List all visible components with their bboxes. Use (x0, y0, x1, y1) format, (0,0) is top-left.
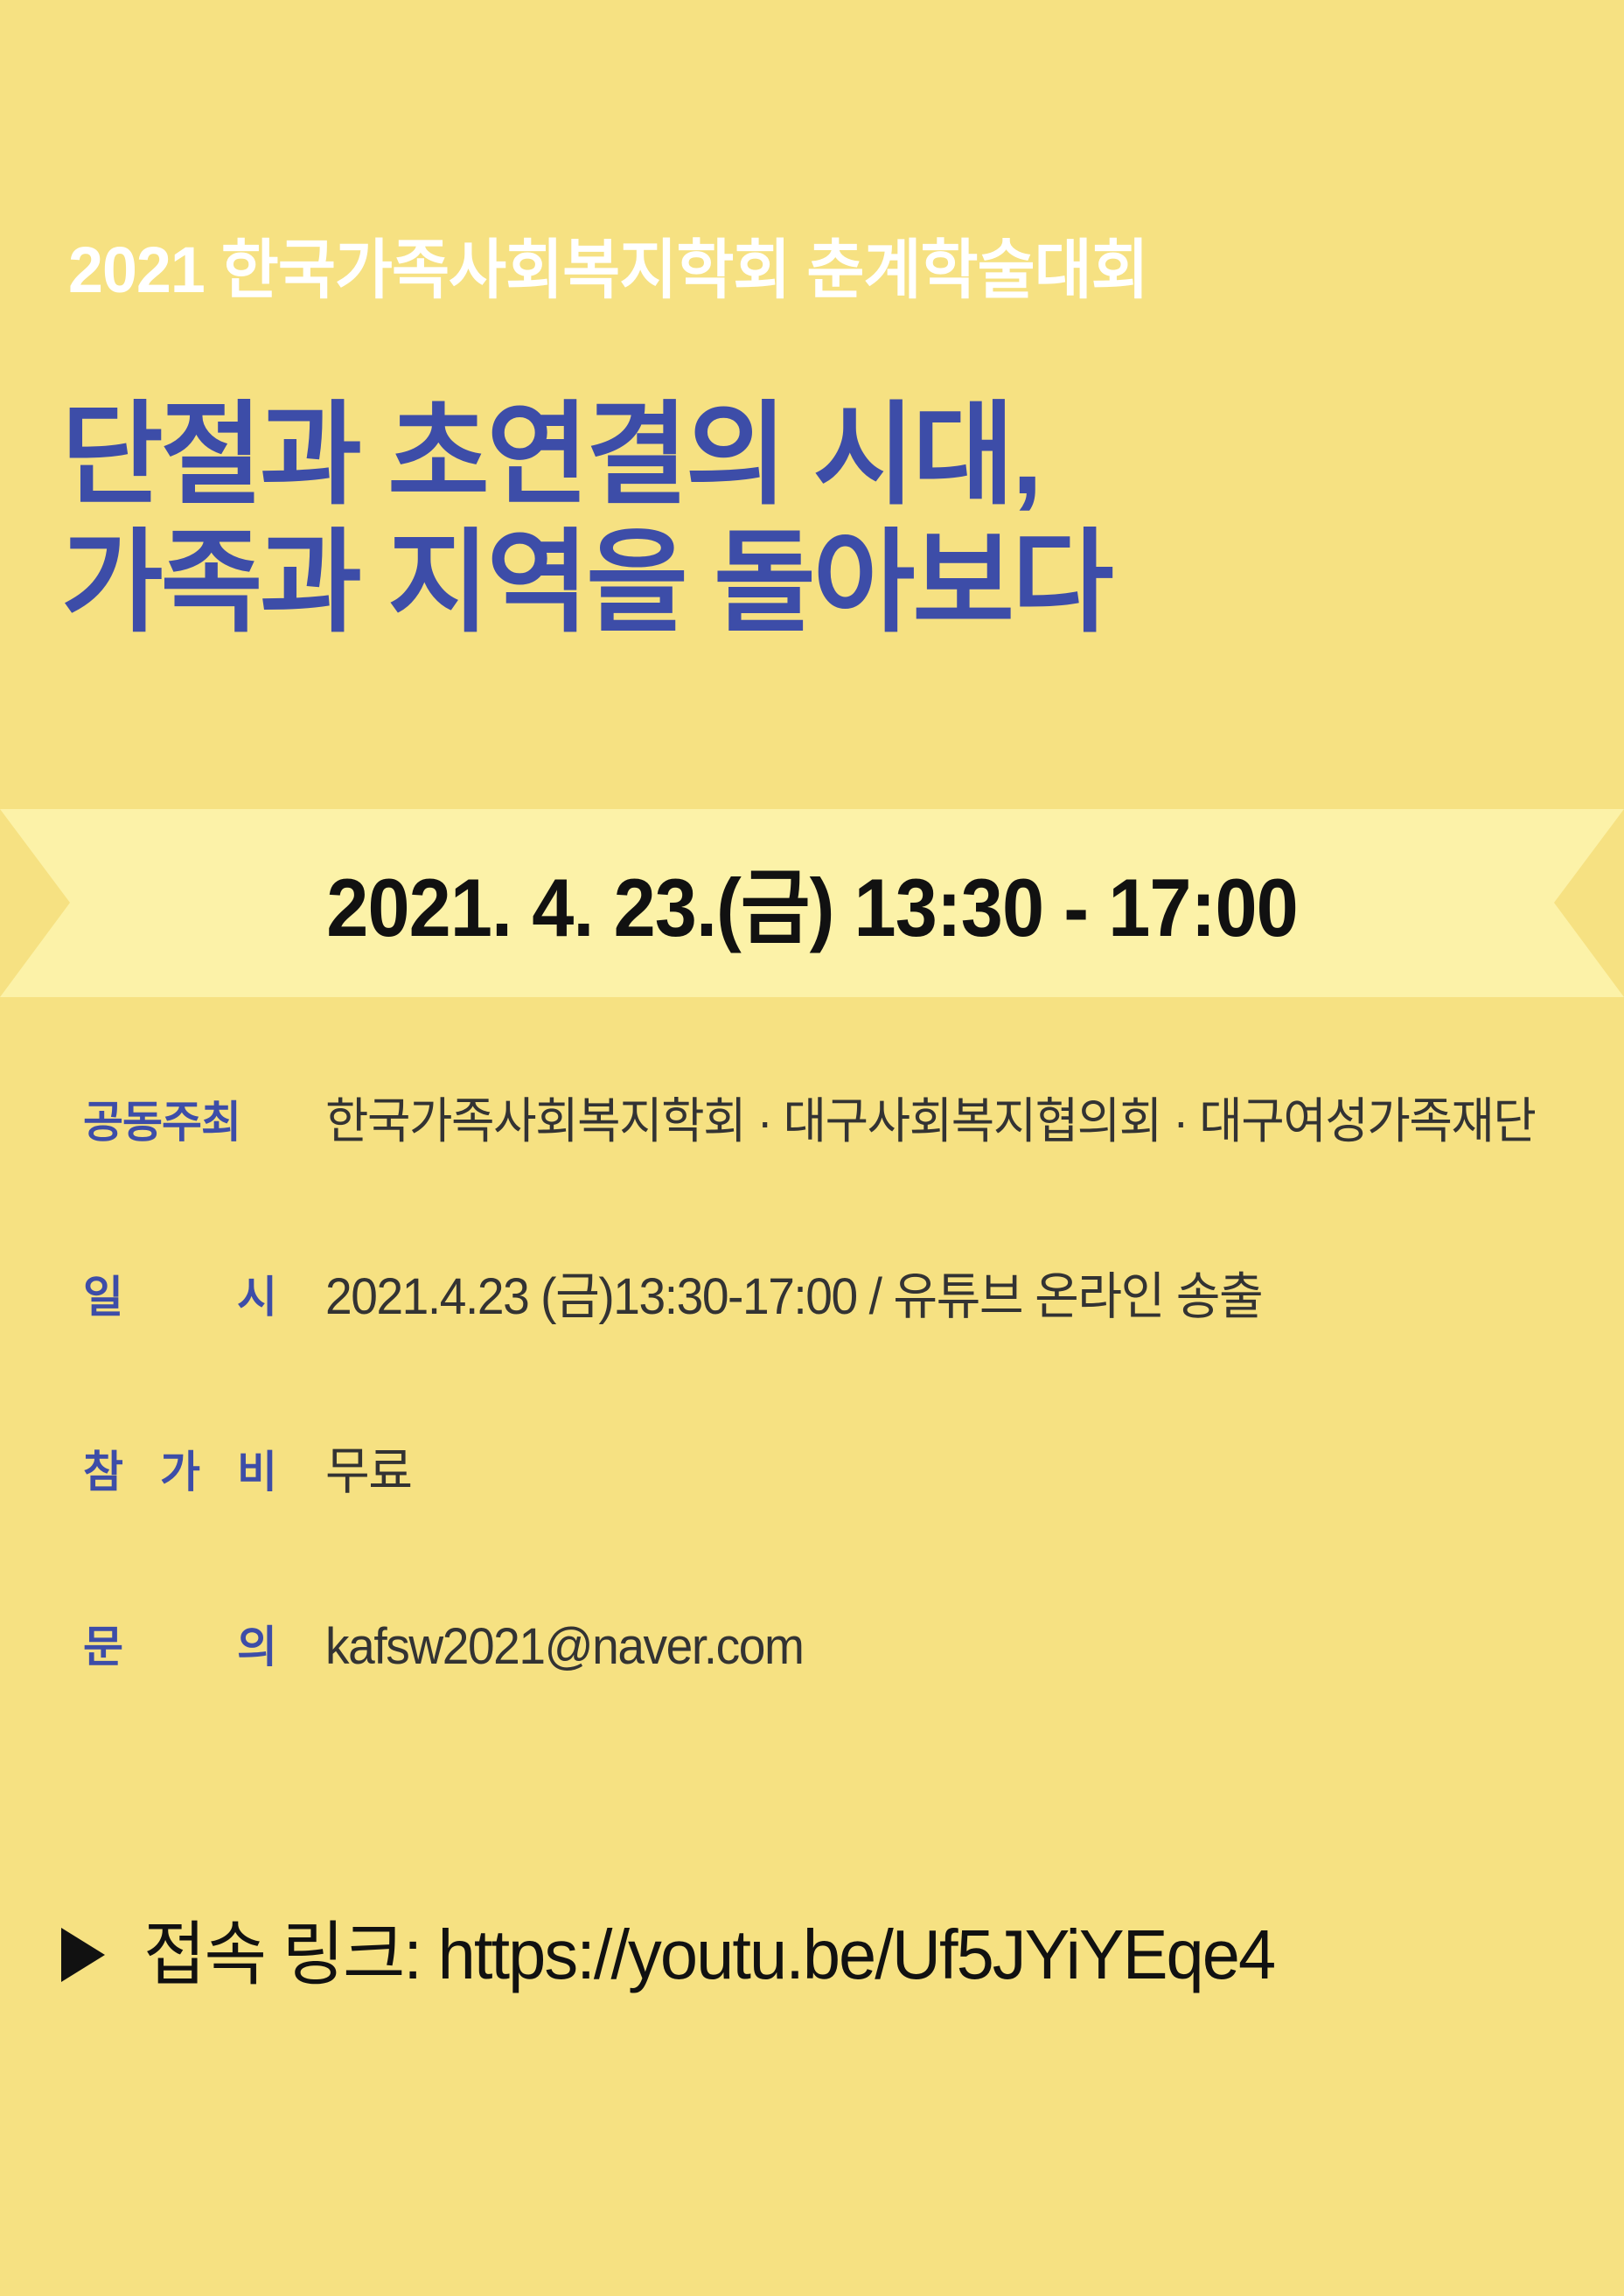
detail-label-contact: 문 의 (83, 1625, 277, 1669)
date-ribbon-banner: 2021. 4. 23.(금) 13:30 - 17:00 (0, 809, 1624, 997)
detail-label-datetime: 일 시 (83, 1275, 277, 1319)
detail-row-contact: 문 의 kafsw2021@naver.com (0, 1625, 1624, 1800)
detail-label-fee: 참 가 비 (83, 1450, 277, 1494)
detail-label-organizers: 공동주최 (83, 1100, 277, 1144)
detail-value-fee: 무료 (325, 1447, 412, 1497)
main-title-line-1: 단절과 초연결의 시대, (61, 392, 1112, 520)
main-title-line-2: 가족과 지역을 돌아보다 (61, 520, 1112, 647)
event-details-list: 공동주최 한국가족사회복지학회 · 대구사회복지협의회 · 대구여성가족재단 일… (0, 1100, 1624, 1800)
poster-canvas: 2021 한국가족사회복지학회 춘계학술대회 단절과 초연결의 시대, 가족과 … (0, 0, 1624, 2296)
poster-eyebrow-title: 2021 한국가족사회복지학회 춘계학술대회 (68, 238, 1148, 303)
detail-row-datetime: 일 시 2021.4.23 (금)13:30-17:00 / 유튜브 온라인 송… (0, 1275, 1624, 1450)
detail-row-organizers: 공동주최 한국가족사회복지학회 · 대구사회복지협의회 · 대구여성가족재단 (0, 1100, 1624, 1275)
poster-main-title: 단절과 초연결의 시대, 가족과 지역을 돌아보다 (61, 392, 1122, 647)
event-date-time: 2021. 4. 23.(금) 13:30 - 17:00 (326, 841, 1298, 966)
access-link-text[interactable]: 접속 링크: https://youtu.be/Uf5JYiYEqe4 (143, 1920, 1274, 1990)
detail-row-fee: 참 가 비 무료 (0, 1450, 1624, 1625)
detail-value-organizers: 한국가족사회복지학회 · 대구사회복지협의회 · 대구여성가족재단 (325, 1097, 1535, 1146)
access-link-row[interactable]: 접속 링크: https://youtu.be/Uf5JYiYEqe4 (61, 1920, 1309, 1990)
detail-value-contact: kafsw2021@naver.com (325, 1622, 803, 1672)
detail-value-datetime: 2021.4.23 (금)13:30-17:00 / 유튜브 온라인 송출 (325, 1272, 1262, 1322)
play-triangle-icon (61, 1928, 105, 1982)
